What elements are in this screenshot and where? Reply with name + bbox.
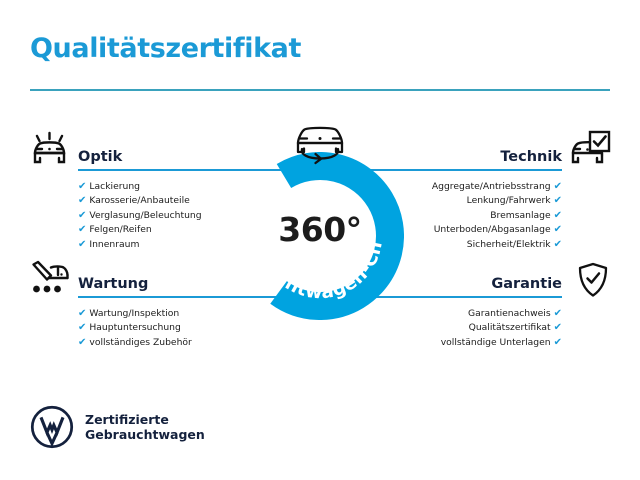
check-icon: ✔ <box>78 181 86 192</box>
check-icon: ✔ <box>554 195 562 206</box>
list-item: vollständige Unterlagen✔ <box>347 336 562 350</box>
list-item-label: Karosserie/Anbauteile <box>89 195 189 206</box>
footer-brand: ZertifizierteGebrauchtwagen <box>30 405 205 449</box>
check-icon: ✔ <box>554 224 562 235</box>
car-rotate-icon <box>285 119 355 171</box>
list-item-label: Aggregate/Antriebsstrang <box>432 181 551 192</box>
check-icon: ✔ <box>78 322 86 333</box>
check-icon: ✔ <box>78 239 86 250</box>
check-icon: ✔ <box>78 195 86 206</box>
footer-line2: Gebrauchtwagen <box>85 427 205 442</box>
check-icon: ✔ <box>78 210 86 221</box>
vw-logo <box>30 405 74 449</box>
list-item: Qualitätszertifikat✔ <box>347 321 562 335</box>
list-item-label: Felgen/Reifen <box>89 224 151 235</box>
list-item-label: Sicherheit/Elektrik <box>467 239 551 250</box>
list-item-label: Garantienachweis <box>468 308 551 319</box>
page-title: Qualitätszertifikat <box>30 33 301 64</box>
footer-text: ZertifizierteGebrauchtwagen <box>85 412 205 443</box>
list-item: ✔vollständiges Zubehör <box>78 336 293 350</box>
list-item-label: Bremsanlage <box>490 210 550 221</box>
car-checkbox-icon <box>567 129 613 169</box>
title-divider <box>30 89 610 91</box>
list-item-label: Wartung/Inspektion <box>89 308 179 319</box>
car-shine-icon <box>27 129 73 169</box>
check-icon: ✔ <box>554 181 562 192</box>
list-item-label: vollständiges Zubehör <box>89 337 191 348</box>
wrench-car-icon <box>27 259 73 299</box>
badge-number: 360° <box>236 210 404 249</box>
list-item-label: vollständige Unterlagen <box>441 337 551 348</box>
shield-check-icon <box>570 261 616 301</box>
list-item: ✔Hauptuntersuchung <box>78 321 293 335</box>
footer-line1: Zertifizierte <box>85 412 169 427</box>
check-icon: ✔ <box>554 337 562 348</box>
list-item-label: Unterboden/Abgasanlage <box>434 224 551 235</box>
check-icon: ✔ <box>554 308 562 319</box>
360-gebrauchtwagen-check-badge: Gebrauchtwagen-Check 360° <box>236 152 404 320</box>
list-item-label: Innenraum <box>89 239 139 250</box>
list-item-label: Hauptuntersuchung <box>89 322 180 333</box>
qualitaetszertifikat-page: Qualitätszertifikat Optik ✔Lackierung ✔K… <box>0 0 640 480</box>
list-item-label: Verglasung/Beleuchtung <box>89 210 201 221</box>
list-item-label: Lenkung/Fahrwerk <box>467 195 551 206</box>
check-icon: ✔ <box>554 239 562 250</box>
check-icon: ✔ <box>554 322 562 333</box>
check-icon: ✔ <box>554 210 562 221</box>
list-item-label: Qualitätszertifikat <box>469 322 551 333</box>
check-icon: ✔ <box>78 337 86 348</box>
check-icon: ✔ <box>78 308 86 319</box>
check-icon: ✔ <box>78 224 86 235</box>
list-item-label: Lackierung <box>89 181 140 192</box>
